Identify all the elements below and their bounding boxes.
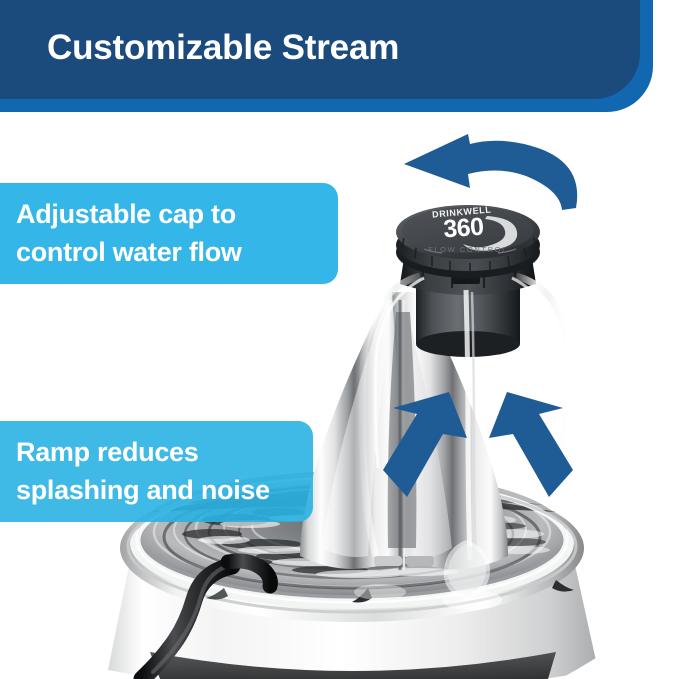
flow-control-cap: DRINKWELL 360 FLOW CONTROL <box>396 204 540 278</box>
page-title: Customizable Stream <box>47 26 399 70</box>
callout-adjustable-cap-line-1: Adjustable cap to <box>16 195 322 233</box>
rotate-cap-arrow <box>398 134 583 210</box>
callout-ramp-reduces: Ramp reduces splashing and noise <box>0 421 313 522</box>
callout-ramp-reduces-line-2: splashing and noise <box>16 471 303 509</box>
water-flow-arrow-left <box>383 392 469 497</box>
callout-adjustable-cap: Adjustable cap to control water flow <box>0 183 338 284</box>
callout-ramp-reduces-line-1: Ramp reduces <box>16 433 303 471</box>
callout-adjustable-cap-line-2: control water flow <box>16 233 322 271</box>
infographic-canvas: DRINKWELL 360 FLOW CONTROL <box>0 0 679 679</box>
cap-model-text: 360 <box>442 213 484 244</box>
water-flow-arrow-right <box>487 392 573 497</box>
